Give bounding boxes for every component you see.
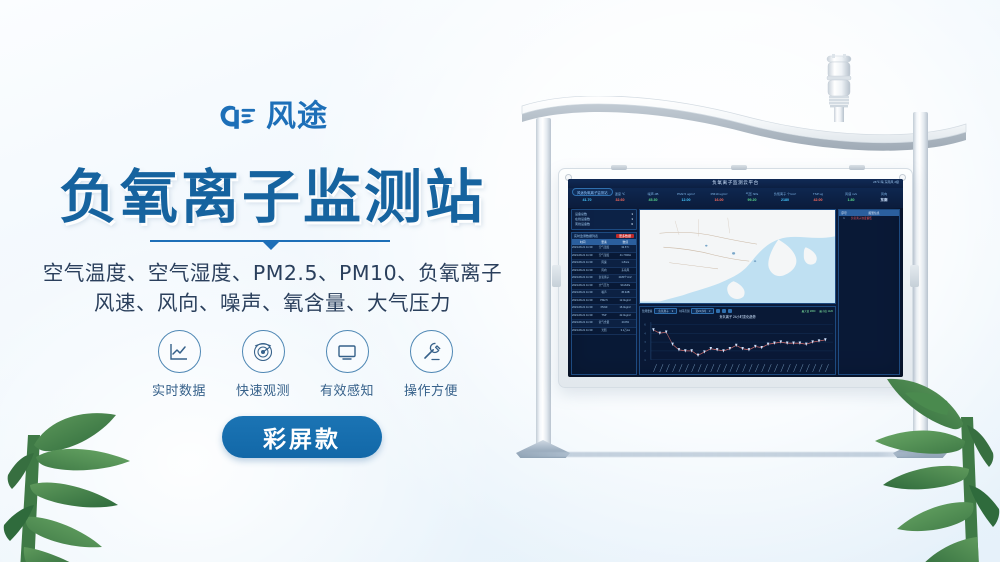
divider-triangle-icon bbox=[262, 241, 280, 250]
cell-element: 空气湿度 bbox=[593, 253, 614, 260]
cell-value: 20.8% bbox=[615, 320, 636, 327]
page-title: 负氧离子监测站 bbox=[0, 150, 545, 234]
cell-element: 大气压力 bbox=[593, 283, 614, 290]
cell-value: 16.0ug/m³ bbox=[615, 305, 636, 312]
svg-text:4: 4 bbox=[645, 332, 646, 336]
stat-row: 离线设备数 0 bbox=[575, 222, 633, 227]
cell-time: 2023-08-21 11:30:00 bbox=[572, 253, 593, 260]
metric-value: 12.00 bbox=[670, 197, 702, 203]
cell-time: 2023-08-21 11:30:00 bbox=[572, 305, 593, 312]
cell-time: 2023-08-21 11:30:00 bbox=[572, 260, 593, 267]
cell-value: 3.1万lux bbox=[615, 328, 636, 335]
cell-value: 45.3dB bbox=[615, 290, 636, 297]
chart-select-label-1: 监测要素 bbox=[642, 309, 652, 313]
color-screen-model-button[interactable]: 彩屏款 bbox=[222, 416, 382, 458]
feature-item-effective-sensing[interactable]: 有效感知 bbox=[313, 330, 381, 399]
weather-widget: 26℃ 晴 东南风 2级 bbox=[873, 180, 899, 184]
center-column: 监测要素 负氧离子 ▾ 时间范围 近24小时 ▾ bbox=[639, 209, 836, 375]
svg-text:3: 3 bbox=[645, 341, 646, 345]
wave-canopy-icon bbox=[518, 96, 970, 156]
realtime-data-table: 实时监测数据列表 更多数据 时间 要素 数值 2023-08-21 11:30:… bbox=[571, 232, 637, 375]
cell-value: 32.6℃ bbox=[615, 245, 636, 252]
cell-element: 风速 bbox=[593, 260, 614, 267]
metric-value: 32.60 bbox=[604, 197, 636, 203]
chart-export-button[interactable] bbox=[722, 309, 726, 313]
stat-label: 离线设备数 bbox=[575, 222, 590, 227]
dashboard-title: 负氧离子监测云平台 bbox=[568, 180, 903, 186]
chart-view-button[interactable] bbox=[716, 309, 720, 313]
feature-icon-circle bbox=[410, 330, 453, 373]
alarm-row[interactable]: 1 负氧离子浓度偏低 bbox=[839, 216, 899, 222]
cell-time: 2023-08-21 11:30:00 bbox=[572, 245, 593, 252]
cell-time: 2023-08-21 11:30:00 bbox=[572, 290, 593, 297]
device-stats: 设备总数 1 在线设备数 1 离线设备数 0 bbox=[571, 209, 637, 230]
alarm-message: 负氧离子浓度偏低 bbox=[849, 216, 899, 222]
chart-select-label-2: 时间范围 bbox=[679, 309, 689, 313]
metric-bar: 空气湿度 % 41.70 温度 ℃ 32.60 噪声 dB 45.30 PM2.… bbox=[568, 188, 903, 208]
cell-element: 负氧离子 bbox=[593, 275, 614, 282]
feature-list: 实时数据 快速观测 有效感知 bbox=[145, 330, 465, 399]
select-value: 近24小时 bbox=[695, 309, 706, 313]
alarm-index: 1 bbox=[839, 216, 849, 222]
feature-label: 有效感知 bbox=[313, 380, 381, 399]
station-tag[interactable]: 风途负氧离子监测站 bbox=[572, 188, 613, 196]
cell-time: 2023-08-21 11:30:00 bbox=[572, 320, 593, 327]
chart-legend: 最大值 2860 最小值 1120 bbox=[802, 309, 833, 313]
subtitle-block: 空气温度、空气湿度、PM2.5、PM10、负氧离子 风速、风向、噪声、氧含量、大… bbox=[0, 258, 545, 318]
alarm-panel: 序号 报警信息 1 负氧离子浓度偏低 bbox=[838, 209, 900, 375]
cell-time: 2023-08-21 11:30:00 bbox=[572, 275, 593, 282]
svg-text:6: 6 bbox=[645, 323, 646, 327]
metric-value: 42.00 bbox=[802, 197, 834, 203]
cell-value: 东南风 bbox=[615, 268, 636, 275]
feature-icon-circle bbox=[242, 330, 285, 373]
chart-refresh-button[interactable] bbox=[728, 309, 732, 313]
table-row[interactable]: 2023-08-21 11:30:00 负氧离子 2180个/cm³ bbox=[572, 275, 636, 283]
table-row[interactable]: 2023-08-21 11:30:00 风向 东南风 bbox=[572, 268, 636, 276]
cell-element: 氧气含量 bbox=[593, 320, 614, 327]
table-row[interactable]: 2023-08-21 11:30:00 PM2.5 12.0ug/m³ bbox=[572, 298, 636, 306]
title-divider bbox=[150, 237, 390, 249]
cell-element: TSP bbox=[593, 313, 614, 320]
metric-card[interactable]: PM10 ug/m³ 16.00 bbox=[703, 192, 735, 206]
cell-value: 2180个/cm³ bbox=[615, 275, 636, 282]
frame-tab bbox=[611, 165, 627, 170]
metric-card[interactable]: 噪声 dB 45.30 bbox=[637, 192, 669, 206]
chevron-down-icon: ▾ bbox=[709, 310, 710, 313]
cell-time: 2023-08-21 11:30:00 bbox=[572, 268, 593, 275]
brand-name: 风途 bbox=[266, 102, 328, 132]
metric-card[interactable]: 风速 m/s 1.80 bbox=[835, 192, 867, 206]
select-value: 负氧离子 bbox=[658, 309, 668, 313]
metric-value: 东南 bbox=[868, 197, 900, 203]
frame-tab bbox=[731, 165, 747, 170]
mount-bracket-left bbox=[552, 265, 561, 287]
cell-element: 光照 bbox=[593, 328, 614, 335]
cell-value: 42.0ug/m³ bbox=[615, 313, 636, 320]
metric-card[interactable]: 负氧离子 个/cm³ 2180 bbox=[769, 192, 801, 206]
subtitle-line-1: 空气温度、空气湿度、PM2.5、PM10、负氧离子 bbox=[0, 258, 545, 288]
cell-element: 风向 bbox=[593, 268, 614, 275]
china-map-panel[interactable] bbox=[639, 209, 836, 304]
metric-value: 99.20 bbox=[736, 197, 768, 203]
table-row[interactable]: 2023-08-21 11:30:00 空气温度 32.6℃ bbox=[572, 245, 636, 253]
table-title: 实时监测数据列表 bbox=[574, 234, 598, 238]
legend-item-max: 最大值 2860 bbox=[802, 309, 816, 313]
cell-value: 99.2kPa bbox=[615, 283, 636, 290]
more-data-button[interactable]: 更多数据 bbox=[616, 234, 634, 238]
feature-icon-circle bbox=[326, 330, 369, 373]
left-column: 设备总数 1 在线设备数 1 离线设备数 0 bbox=[571, 209, 637, 375]
dashboard-header: 负氧离子监测云平台 26℃ 晴 东南风 2级 bbox=[568, 179, 903, 188]
wind-cloud-logo-icon bbox=[217, 100, 257, 134]
cell-time: 2023-08-21 11:30:00 bbox=[572, 298, 593, 305]
cell-value: 12.0ug/m³ bbox=[615, 298, 636, 305]
radar-observation-icon bbox=[251, 340, 275, 364]
cell-element: 空气温度 bbox=[593, 245, 614, 252]
wrench-tool-icon bbox=[419, 340, 443, 364]
cell-time: 2023-08-21 11:30:00 bbox=[572, 283, 593, 290]
chart-plot-area: 64 321 bbox=[642, 320, 833, 373]
support-pole-left bbox=[536, 118, 551, 448]
metric-value: 1.80 bbox=[835, 197, 867, 203]
metric-value: 2180 bbox=[769, 197, 801, 203]
metric-card[interactable]: 气压 hPa 99.20 bbox=[736, 192, 768, 206]
china-map-icon bbox=[640, 210, 835, 303]
cell-time: 2023-08-21 11:30:00 bbox=[572, 313, 593, 320]
metric-card[interactable]: TSP ug 42.00 bbox=[802, 192, 834, 206]
table-row[interactable]: 2023-08-21 11:30:00 空气湿度 41.7%RH bbox=[572, 253, 636, 261]
subtitle-line-2: 风速、风向、噪声、氧含量、大气压力 bbox=[0, 288, 545, 318]
metric-card[interactable]: PM2.5 ug/m³ 12.00 bbox=[670, 192, 702, 206]
dashboard-screen[interactable]: 负氧离子监测云平台 26℃ 晴 东南风 2级 风途负氧离子监测站 空气湿度 % … bbox=[568, 179, 903, 377]
table-row[interactable]: 2023-08-21 11:30:00 风速 1.8m/s bbox=[572, 260, 636, 268]
brand-logo: 风途 bbox=[0, 100, 545, 134]
chevron-down-icon: ▾ bbox=[672, 310, 673, 313]
cell-time: 2023-08-21 11:30:00 bbox=[572, 328, 593, 335]
table-row[interactable]: 2023-08-21 11:30:00 TSP 42.0ug/m³ bbox=[572, 313, 636, 321]
metric-value: 16.00 bbox=[703, 197, 735, 203]
line-chart-plot: 64 321 bbox=[642, 320, 833, 373]
table-row[interactable]: 2023-08-21 11:30:00 PM10 16.0ug/m³ bbox=[572, 305, 636, 313]
cell-element: PM2.5 bbox=[593, 298, 614, 305]
legend-item-min: 最小值 1120 bbox=[819, 309, 833, 313]
decorative-leaves-left bbox=[0, 365, 190, 562]
cell-element: 噪声 bbox=[593, 290, 614, 297]
dashboard-body: 设备总数 1 在线设备数 1 离线设备数 0 bbox=[568, 208, 903, 377]
line-chart-icon bbox=[167, 340, 191, 364]
table-row[interactable]: 2023-08-21 11:30:00 噪声 45.3dB bbox=[572, 290, 636, 298]
mount-bracket-right bbox=[910, 265, 919, 287]
trend-chart-panel: 监测要素 负氧离子 ▾ 时间范围 近24小时 ▾ bbox=[639, 306, 836, 375]
table-row[interactable]: 2023-08-21 11:30:00 氧气含量 20.8% bbox=[572, 320, 636, 328]
cell-element: PM10 bbox=[593, 305, 614, 312]
cell-value: 1.8m/s bbox=[615, 260, 636, 267]
feature-item-easy-operation[interactable]: 操作方便 bbox=[397, 330, 465, 399]
monitor-display-icon bbox=[335, 340, 359, 364]
table-row[interactable]: 2023-08-21 11:30:00 光照 3.1万lux bbox=[572, 328, 636, 336]
feature-label: 快速观测 bbox=[229, 380, 297, 399]
feature-item-fast-observation[interactable]: 快速观测 bbox=[229, 330, 297, 399]
right-column: 序号 报警信息 1 负氧离子浓度偏低 bbox=[838, 209, 900, 375]
stat-value: 0 bbox=[631, 222, 633, 227]
metric-value: 45.30 bbox=[637, 197, 669, 203]
frame-tab bbox=[849, 165, 865, 170]
decorative-leaves-right bbox=[827, 357, 1000, 562]
feature-label: 操作方便 bbox=[397, 380, 465, 399]
display-frame: 负氧离子监测云平台 26℃ 晴 东南风 2级 风途负氧离子监测站 空气湿度 % … bbox=[558, 168, 913, 388]
table-row[interactable]: 2023-08-21 11:30:00 大气压力 99.2kPa bbox=[572, 283, 636, 291]
metric-card[interactable]: 风向 东南 bbox=[868, 192, 900, 206]
svg-text:2: 2 bbox=[645, 350, 646, 354]
metric-value: 41.70 bbox=[571, 197, 603, 203]
svg-text:1: 1 bbox=[645, 358, 646, 362]
cell-value: 41.7%RH bbox=[615, 253, 636, 260]
